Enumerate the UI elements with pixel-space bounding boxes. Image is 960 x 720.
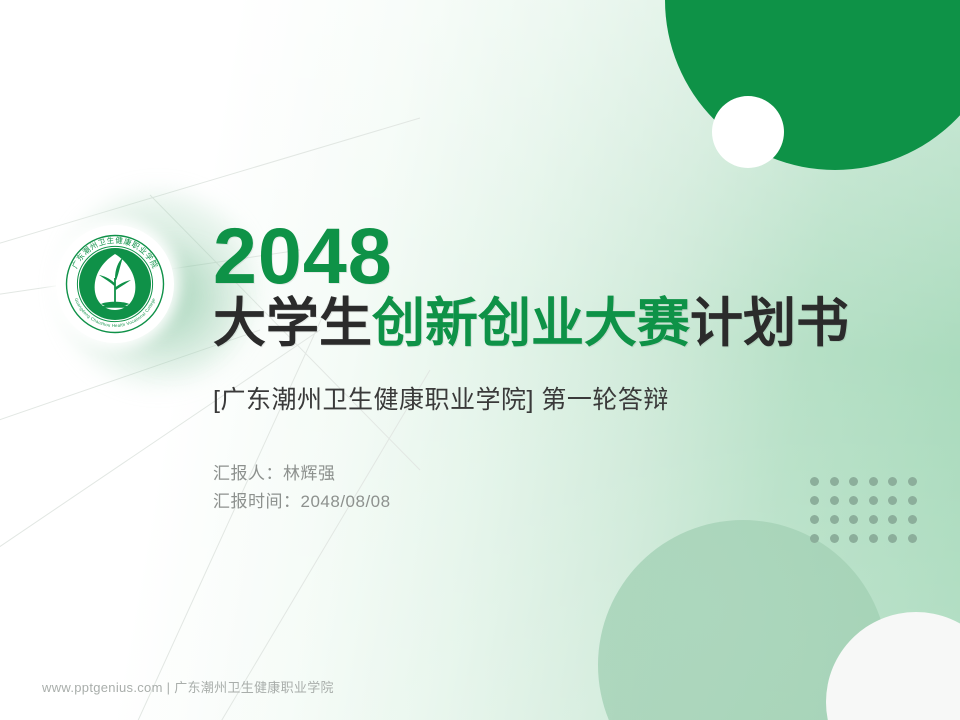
page-title-part-1: 大学生 — [213, 294, 372, 353]
date-line: 汇报时间：2048/08/08 — [213, 488, 913, 517]
presenter-line: 汇报人：林辉强 — [213, 460, 913, 489]
year-heading: 2048 — [213, 222, 913, 290]
presentation-meta: 汇报人：林辉强 汇报时间：2048/08/08 — [213, 460, 913, 518]
page-title-part-3: 计划书 — [690, 294, 849, 353]
page-subtitle: [广东潮州卫生健康职业学院] 第一轮答辩 — [213, 380, 913, 416]
title-text-block: 2048 大学生创新创业大赛计划书 [广东潮州卫生健康职业学院] 第一轮答辩 汇… — [213, 222, 913, 517]
decorative-white-circle-top-right — [712, 96, 784, 168]
presentation-title-slide: 广东潮州卫生健康职业学院 Guangdong Chaozhou Health V… — [0, 0, 960, 720]
college-logo-emblem-icon: 广东潮州卫生健康职业学院 Guangdong Chaozhou Health V… — [65, 234, 165, 334]
footer-credit: www.pptgenius.com | 广东潮州卫生健康职业学院 — [42, 677, 334, 696]
college-logo: 广东潮州卫生健康职业学院 Guangdong Chaozhou Health V… — [56, 225, 174, 343]
page-title: 大学生创新创业大赛计划书 — [213, 296, 913, 352]
page-title-part-2: 创新创业大赛 — [372, 294, 690, 353]
